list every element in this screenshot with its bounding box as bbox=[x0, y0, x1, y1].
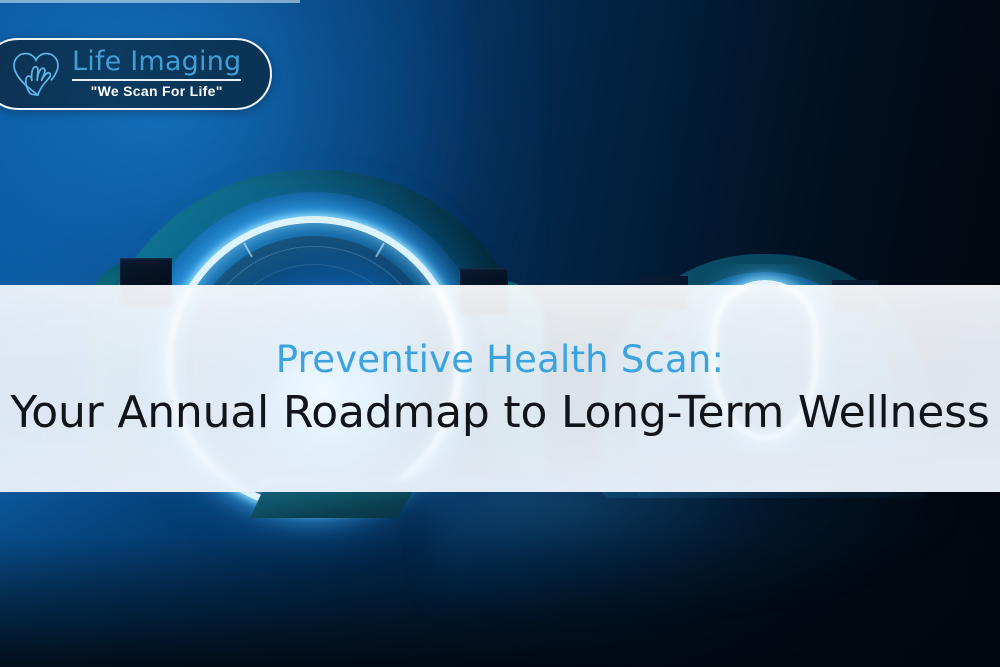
brand-tagline: "We Scan For Life" bbox=[72, 84, 241, 99]
headline-eyebrow: Preventive Health Scan: bbox=[276, 340, 724, 379]
marketing-banner: Preventive Health Scan: Your Annual Road… bbox=[0, 0, 1000, 667]
headline-overlay-band: Preventive Health Scan: Your Annual Road… bbox=[0, 285, 1000, 492]
badge-top-accent bbox=[0, 0, 300, 3]
brand-divider bbox=[72, 79, 241, 81]
brand-name: Life Imaging bbox=[72, 48, 241, 75]
brand-lockup: Life Imaging "We Scan For Life" bbox=[72, 48, 259, 99]
heart-in-hand-icon bbox=[10, 46, 66, 102]
page-title: Your Annual Roadmap to Long-Term Wellnes… bbox=[10, 390, 989, 437]
brand-logo-badge[interactable]: Life Imaging "We Scan For Life" bbox=[0, 38, 272, 110]
